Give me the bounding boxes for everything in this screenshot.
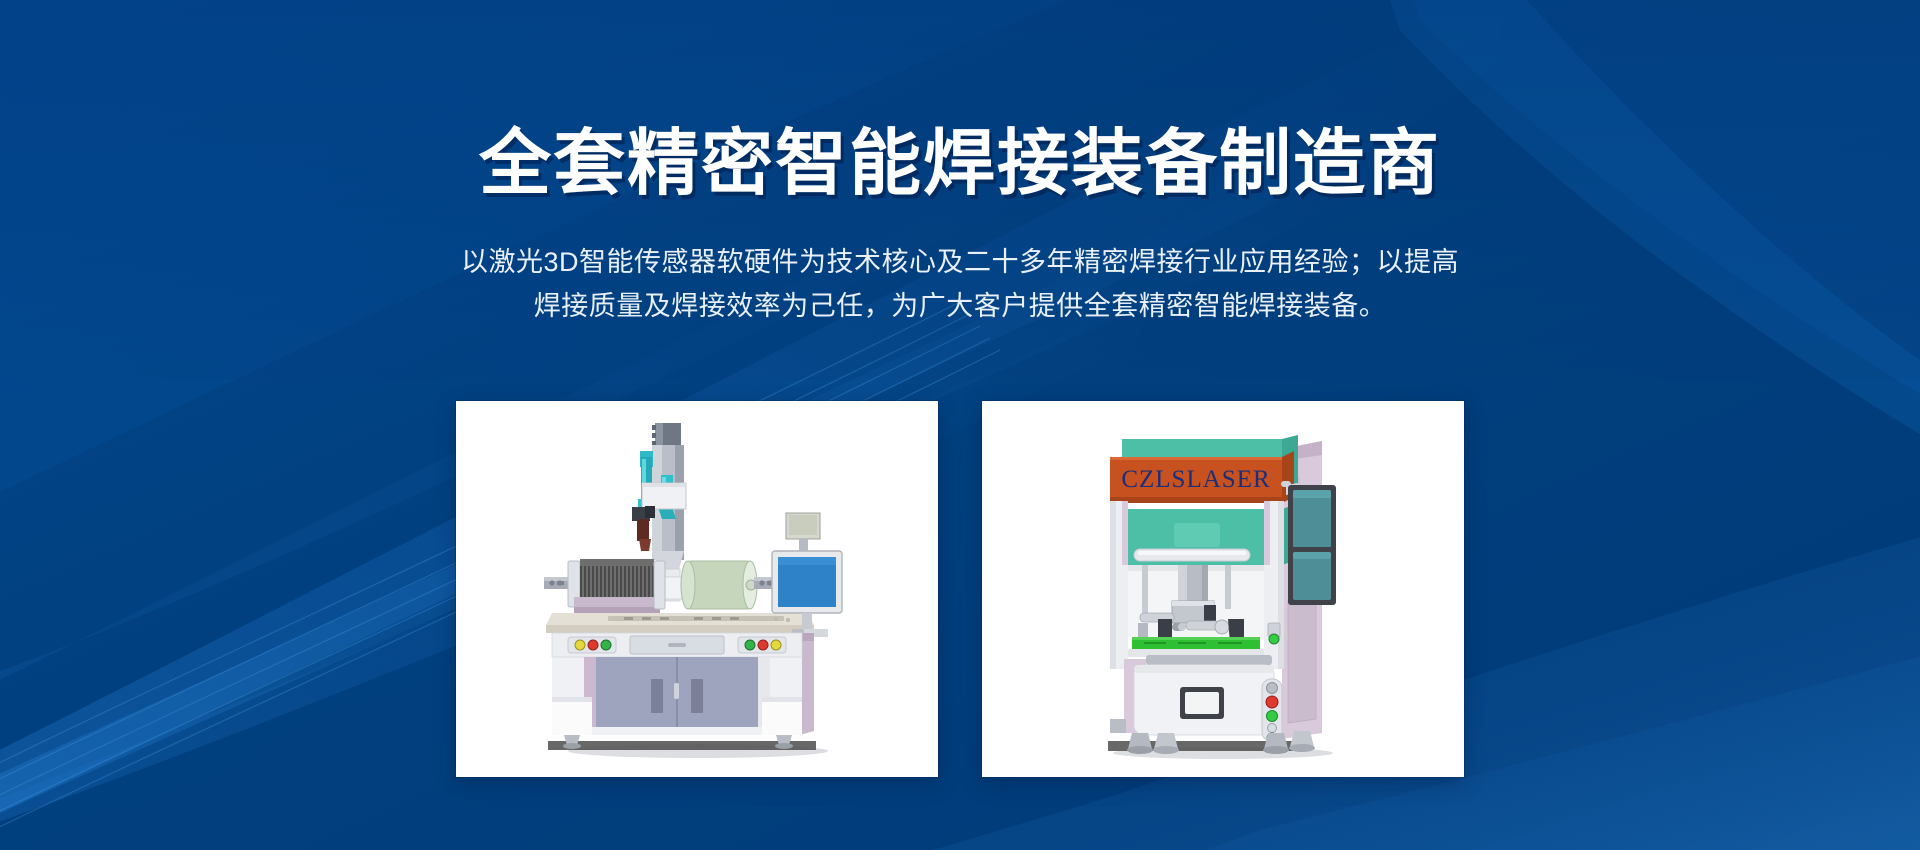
hero-subtitle-line-1: 以激光3D智能传感器软硬件为技术核心及二十多年精密焊接行业应用经验；以提高 — [400, 240, 1520, 284]
hero-subtitle-line-2: 焊接质量及焊接效率为己任，为广大客户提供全套精密智能焊接装备。 — [400, 284, 1520, 328]
product-card-laser-welding-workstation[interactable] — [456, 401, 938, 777]
page-title: 全套精密智能焊接装备制造商 — [0, 128, 1920, 200]
laser-welding-workstation-illustration — [456, 401, 938, 777]
hero-banner: 全套精密智能焊接装备制造商 以激光3D智能传感器软硬件为技术核心及二十多年精密焊… — [0, 0, 1920, 850]
product-card-czlslaser-machine[interactable]: CZLSLASER — [982, 401, 1464, 777]
czlslaser-machine-illustration: CZLSLASER — [982, 401, 1464, 777]
machine-brand-text: CZLSLASER — [1121, 466, 1270, 493]
product-gallery: CZLSLASER — [456, 401, 1464, 777]
hero-subtitle: 以激光3D智能传感器软硬件为技术核心及二十多年精密焊接行业应用经验；以提高 焊接… — [400, 240, 1520, 328]
